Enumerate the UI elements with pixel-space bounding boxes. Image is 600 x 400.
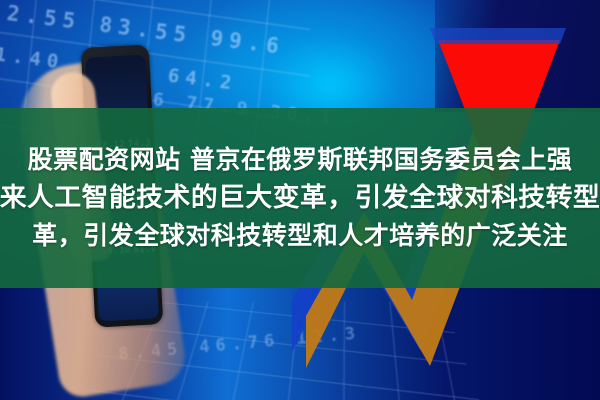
arrow-head-rim — [430, 28, 566, 44]
news-banner-image: 2.55 83.55 99.6 1.40 7.80 64.2 55.6 77.9… — [0, 0, 600, 400]
headline-line-3: 革，引发全球对科技转型和人才培养的广泛关注 — [32, 217, 568, 255]
headline-line-1: 股票配资网站 普京在俄罗斯联邦国务委员会上强 — [28, 141, 573, 179]
headline-block: 股票配资网站 普京在俄罗斯联邦国务委员会上强 迎来人工智能技术的巨大变革，引发全… — [0, 108, 600, 288]
headline-line-2: 迎来人工智能技术的巨大变革，引发全球对科技转型和 — [0, 179, 600, 217]
